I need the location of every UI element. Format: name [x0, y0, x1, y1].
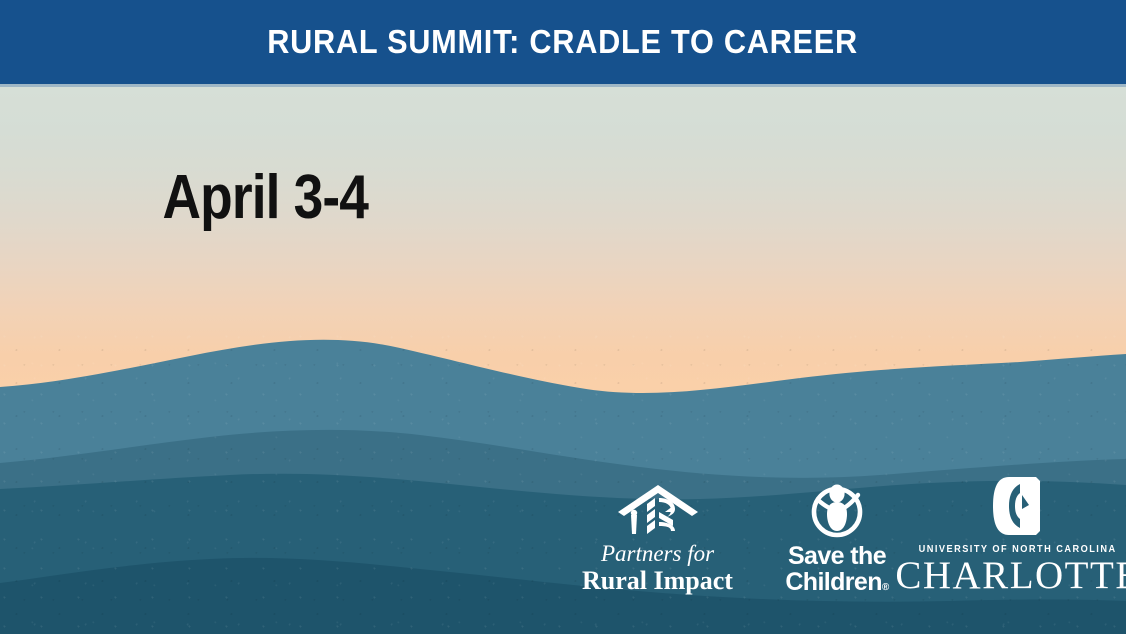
unc-line-1: UNIVERSITY OF NORTH CAROLINA — [919, 544, 1117, 555]
unc-charlotte-c-icon — [991, 475, 1045, 537]
header-banner: RURAL SUMMIT: CRADLE TO CAREER — [0, 0, 1126, 84]
graduation-cap-icon — [615, 482, 701, 538]
registered-mark: ® — [882, 582, 889, 593]
unc-line-2: CHARLOTTE — [895, 556, 1126, 595]
logo-save-the-children: Save the Children® — [778, 481, 896, 595]
sponsor-logo-row: Partners for Rural Impact Save the Child… — [575, 480, 1115, 595]
logo-unc-charlotte: UNIVERSITY OF NORTH CAROLINA CHARLOTTE — [928, 475, 1108, 595]
stc-line-2: Children® — [785, 569, 888, 595]
headline-block: April 3-4 — [0, 96, 760, 228]
pri-line-1: Partners for — [601, 542, 714, 567]
banner-divider — [0, 84, 1126, 87]
child-in-circle-icon — [806, 481, 868, 539]
logo-partners-for-rural-impact: Partners for Rural Impact — [575, 482, 740, 595]
event-date: April 3-4 — [162, 169, 368, 228]
stc-line-2-text: Children — [785, 568, 882, 596]
banner-title: RURAL SUMMIT: CRADLE TO CAREER — [268, 23, 859, 61]
event-poster: RURAL SUMMIT: CRADLE TO CAREER April 3-4… — [0, 0, 1126, 634]
stc-line-1: Save the — [788, 543, 886, 569]
pri-line-2: Rural Impact — [582, 567, 733, 595]
date-row: April 3-4 — [0, 96, 760, 228]
